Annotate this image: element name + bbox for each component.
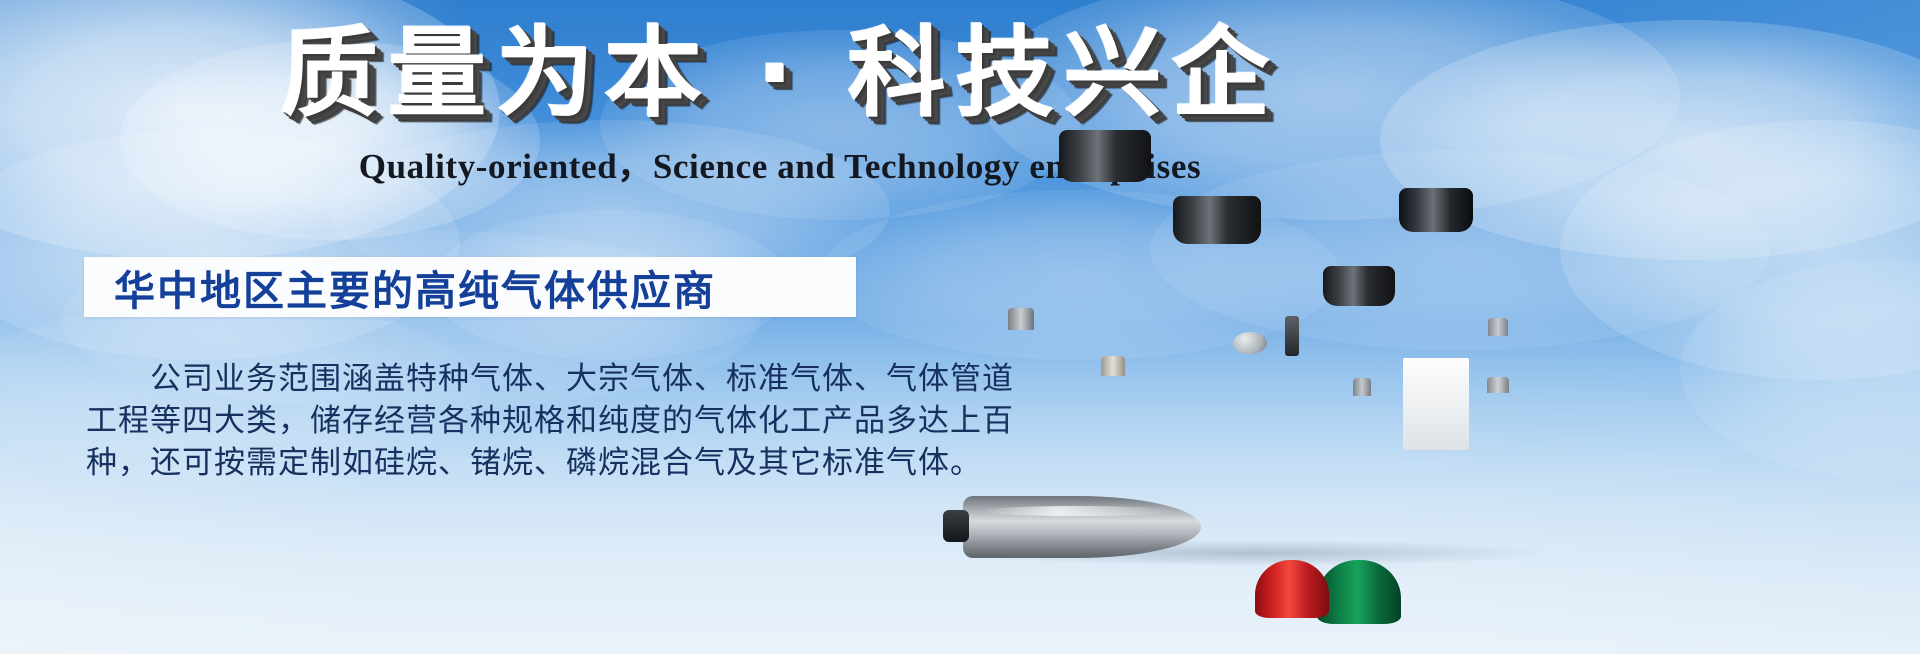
cylinder-neck [1488,318,1508,336]
headline-box: 华中地区主要的高纯气体供应商 [84,257,856,317]
main-title-container: 质量为本 · 科技兴企 [0,22,1560,128]
cylinder-cap [1059,130,1151,182]
body-paragraph: 公司业务范围涵盖特种气体、大宗气体、标准气体、气体管道 工程等四大类，储存经营各… [86,358,886,484]
cylinder-neck [1008,308,1034,330]
body-line: 工程等四大类，储存经营各种规格和纯度的气体化工产品多达上百 [86,400,886,442]
small-aluminium-cylinder [1327,390,1397,560]
cylinder-shoulder [1255,560,1329,618]
cylinder-neck [1353,378,1371,396]
cylinder-cap [1173,196,1261,244]
red-cylinder [1455,388,1541,560]
lying-grey-cylinder [963,496,1201,558]
cylinder-valve [943,510,969,542]
main-title: 质量为本 · 科技兴企 [0,22,1560,128]
cylinder-neck [1487,377,1509,393]
cylinder-handwheel [1233,332,1267,354]
red-purple-cylinder [1255,350,1329,560]
cylinder-highlight [981,506,1173,516]
cylinder-shoulder [1317,560,1401,624]
body-line: 公司业务范围涵盖特种气体、大宗气体、标准气体、气体管道 [86,358,886,400]
cylinder-neck [1101,356,1125,376]
body-line: 种，还可按需定制如硅烷、锗烷、磷烷混合气及其它标准气体。 [86,442,886,484]
cylinder-valve [1285,316,1299,356]
cylinder-cap [1323,266,1395,306]
cylinder-cap [1399,188,1473,232]
headline-text: 华中地区主要的高纯气体供应商 [114,257,716,317]
promo-banner: 质量为本 · 科技兴企 Quality-oriented，Science and… [0,0,1920,654]
gas-cylinders-image [955,160,1555,560]
